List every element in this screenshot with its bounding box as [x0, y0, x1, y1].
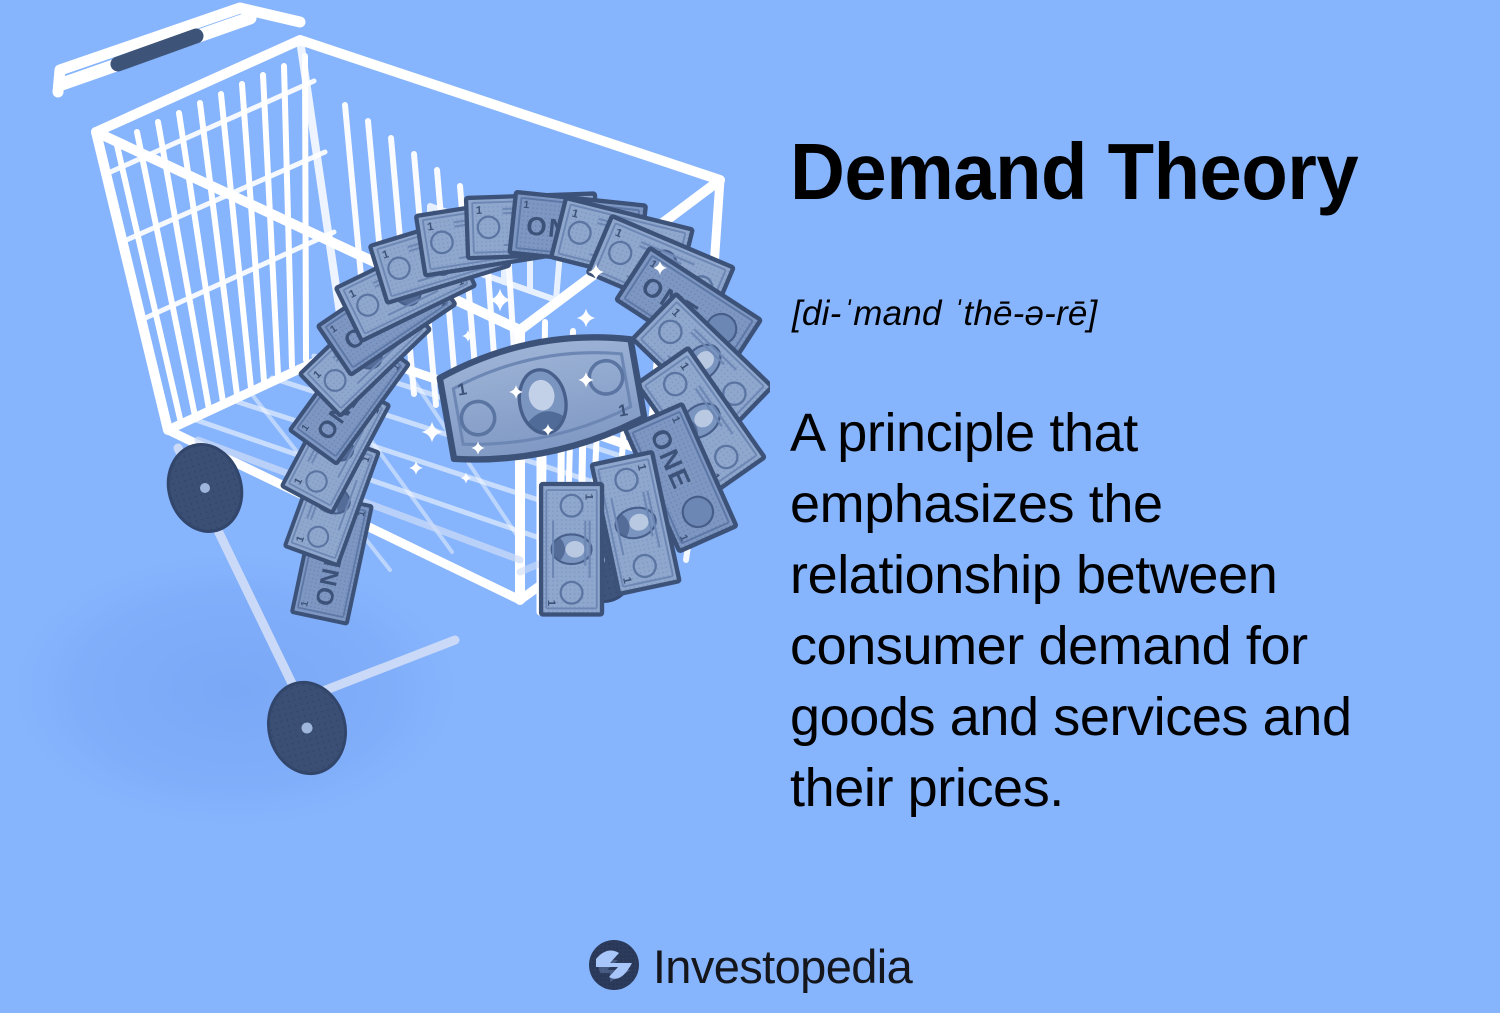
investopedia-logo[interactable]: Investopedia: [0, 939, 1500, 991]
term-pronunciation: [di-ˈmand ˈthē-ə-rē]: [792, 296, 1097, 331]
illustration-shopping-cart-money: 1 1 ONE 1 1: [0, 0, 770, 900]
term-definition: A principle that emphasizes the relation…: [790, 398, 1390, 824]
investopedia-wordmark: Investopedia: [653, 943, 912, 990]
infographic-card: 1 1 ONE 1 1: [0, 0, 1500, 1013]
investopedia-bolt-icon: [588, 939, 640, 991]
term-title: Demand Theory: [790, 132, 1358, 212]
